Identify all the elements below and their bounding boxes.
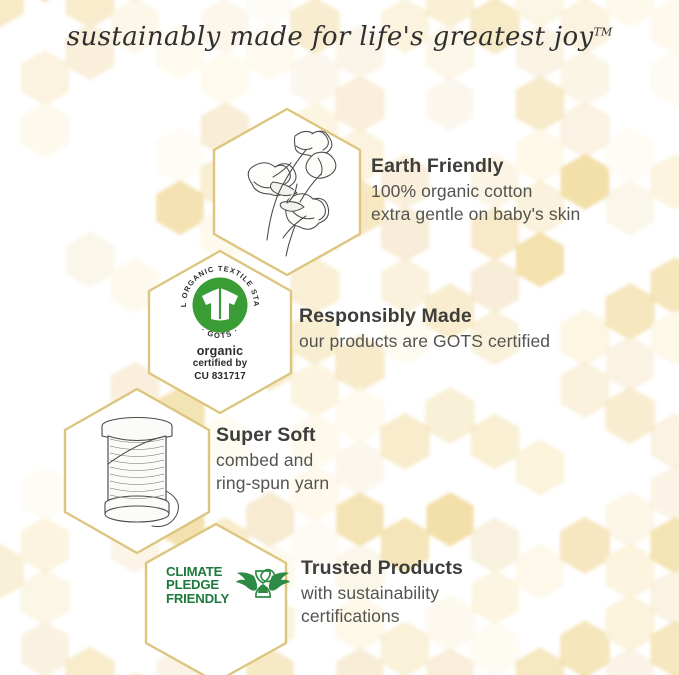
feature-line: 100% organic cotton (371, 180, 580, 203)
infographic-canvas: sustainably made for life's greatest joy… (0, 0, 679, 675)
cpf-line-1: CLIMATE (166, 565, 229, 578)
feature-title: Super Soft (216, 424, 329, 447)
feature-line: with sustainability (301, 582, 463, 605)
feature-line: extra gentle on baby's skin (371, 203, 580, 226)
feature-title: Earth Friendly (371, 155, 580, 178)
trademark-icon: TM (594, 25, 613, 38)
cpf-wordmark: CLIMATE PLEDGE FRIENDLY (166, 565, 229, 605)
feature-text-responsibly-made: Responsibly Made our products are GOTS c… (299, 305, 550, 353)
feature-line: combed and (216, 449, 329, 472)
page-headline: sustainably made for life's greatest joy… (0, 22, 679, 52)
feature-title: Responsibly Made (299, 305, 550, 328)
feature-text-super-soft: Super Soft combed and ring-spun yarn (216, 424, 329, 495)
feature-line: certifications (301, 605, 463, 628)
cpf-line-3: FRIENDLY (166, 592, 229, 605)
feature-text-earth-friendly: Earth Friendly 100% organic cotton extra… (371, 155, 580, 226)
gots-seal-icon: GLOBAL ORGANIC TEXTILE STANDARD · GOTS ·… (160, 258, 280, 383)
gots-circle-mark: GLOBAL ORGANIC TEXTILE STANDARD · GOTS · (160, 258, 280, 338)
cpf-line-2: PLEDGE (166, 578, 229, 591)
climate-pledge-friendly-icon: CLIMATE PLEDGE FRIENDLY (166, 563, 290, 607)
feature-title: Trusted Products (301, 557, 463, 580)
feature-line: ring-spun yarn (216, 472, 329, 495)
winged-hourglass-icon (236, 563, 290, 607)
gots-label: organic (160, 344, 280, 358)
gots-license: CU 831717 (160, 371, 280, 384)
feature-line: our products are GOTS certified (299, 330, 550, 353)
headline-text: sustainably made for life's greatest joy (67, 22, 594, 52)
feature-text-trusted-products: Trusted Products with sustainability cer… (301, 557, 463, 628)
gots-certified-by: certified by (160, 358, 280, 371)
